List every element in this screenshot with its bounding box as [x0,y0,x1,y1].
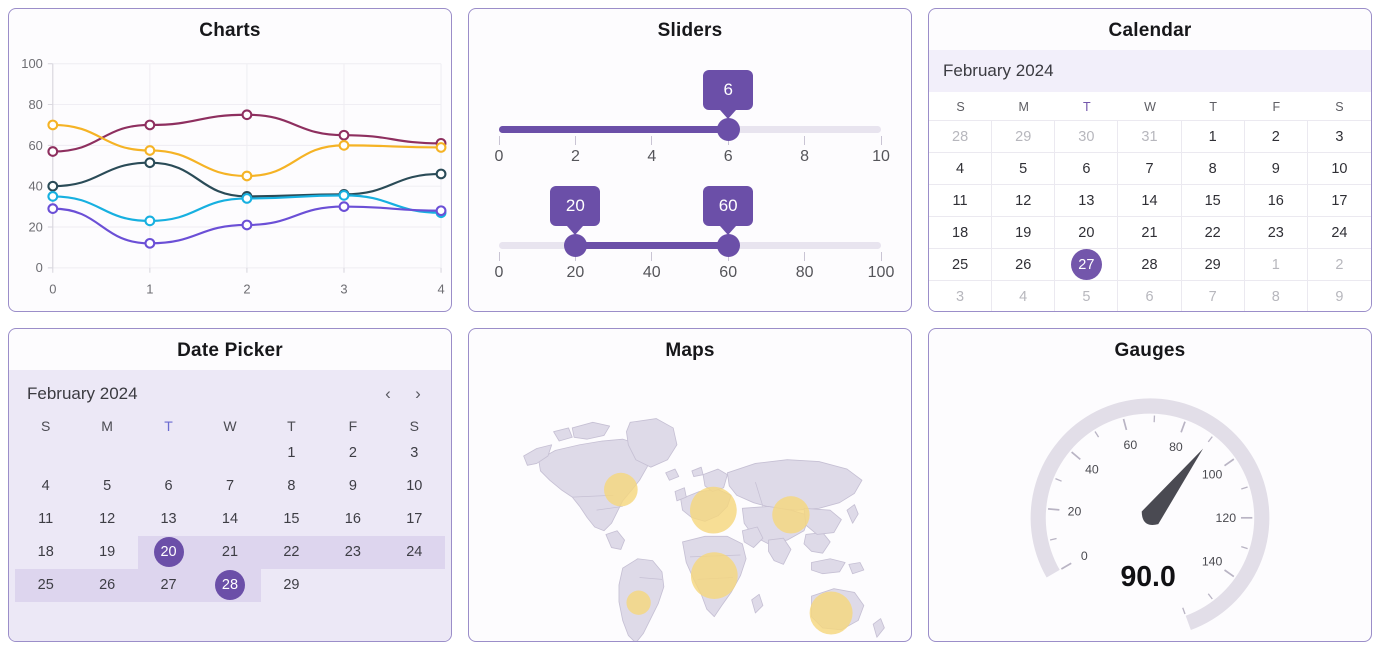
datepicker-day-label: 13 [160,511,176,527]
calendar-day-cell[interactable]: 7 [1182,281,1245,312]
slider-fill [575,242,728,249]
datepicker-day-cell[interactable]: 1 [261,436,322,469]
gauge-major-tick [1225,459,1234,466]
datepicker-day-label: 19 [99,544,115,560]
datepicker-day-cell[interactable]: 6 [138,469,199,502]
datepicker-day-cell [322,602,383,635]
datepicker-day-label: 21 [222,544,238,560]
datepicker-day-cell [15,602,76,635]
datepicker-day-label: 27 [160,577,176,593]
datepicker-card: Date Picker February 2024 ‹ › SMTWTFS 12… [8,328,452,642]
svg-text:80: 80 [28,97,42,112]
map-land-shape [692,467,703,476]
calendar-day-cell[interactable]: 8 [1245,281,1308,312]
svg-text:4: 4 [437,281,444,296]
sliders-card: Sliders 602468102060020406080100 [468,8,912,312]
gauges-title: Gauges [929,329,1371,370]
gauge-major-tick [1181,422,1185,433]
calendar-day-cell[interactable]: 29 [1182,249,1245,281]
svg-text:20: 20 [28,220,42,235]
map-land-shape [606,531,625,550]
map-land-shape [554,428,573,441]
map-land-shape [752,594,763,613]
slider-scale-label: 6 [724,148,733,166]
datepicker-selection-circle: 20 [154,537,184,567]
datepicker-day-cell [384,602,445,635]
datepicker-selected-day[interactable]: 20 [138,536,199,569]
map-land-shape [811,559,845,574]
calendar-day-cell[interactable]: 5 [992,153,1055,185]
datepicker-day-cell[interactable]: 24 [384,536,445,569]
gauge-major-tick [1072,452,1081,459]
datepicker-selection-circle: 28 [215,570,245,600]
datepicker-body: February 2024 ‹ › SMTWTFS 12345678910111… [9,370,451,641]
map-land-shape [804,508,841,534]
charts-body: 02040608010001234 [9,50,451,311]
calendar-day-cell[interactable]: 19 [992,217,1055,249]
datepicker-day-cell[interactable]: 17 [384,502,445,535]
datepicker-day-label: 24 [406,544,422,560]
datepicker-weekday-header: SMTWTFS [9,410,451,436]
slider-scale-label: 4 [647,148,656,166]
calendar-day-cell[interactable]: 7 [1118,153,1181,185]
gauge-tick-label: 80 [1169,440,1183,454]
datepicker-day-cell[interactable]: 16 [322,502,383,535]
datepicker-day-cell [138,436,199,469]
slider-tick [881,136,882,145]
map-land-shape [804,533,830,554]
calendar-day-cell[interactable]: 5 [1055,281,1118,312]
sliders-container: 602468102060020406080100 [469,50,911,311]
calendar-weekday-label: T [1182,92,1245,120]
datepicker-day-cell[interactable]: 7 [199,469,260,502]
gauge-tick-label: 40 [1085,462,1099,476]
map-land-shape [768,538,790,564]
datepicker-day-cell[interactable]: 12 [76,502,137,535]
calendar-day-cell[interactable]: 12 [992,185,1055,217]
calendar-day-cell[interactable]: 8 [1182,153,1245,185]
charts-card: Charts 02040608010001234 [8,8,452,312]
slider-thumb[interactable] [717,234,740,257]
single-slider[interactable]: 60246810 [499,64,881,174]
datepicker-day-cell [199,602,260,635]
slider-tick [804,252,805,261]
datepicker-day-label: 11 [38,511,53,527]
datepicker-day-cell [15,436,76,469]
calendar-month-label: February 2024 [929,50,1371,92]
gauge-minor-tick [1050,539,1056,540]
datepicker-weekday-label: W [199,418,260,434]
svg-text:0: 0 [36,260,43,275]
calendar-day-cell[interactable]: 28 [1118,249,1181,281]
gauge-needle [1142,449,1203,525]
calendar-day-cell[interactable]: 28 [929,121,992,153]
datepicker-day-cell [138,602,199,635]
calendar-day-cell[interactable]: 3 [929,281,992,312]
svg-text:40: 40 [28,179,42,194]
gauge-minor-tick [1208,594,1212,599]
datepicker-day-label: 8 [287,478,295,494]
datepicker-day-label: 29 [283,577,299,593]
datepicker-month-label: February 2024 [27,384,373,404]
calendar-day-cell[interactable]: 2 [1308,249,1371,281]
slider-thumb[interactable] [564,234,587,257]
svg-text:0: 0 [49,281,56,296]
datepicker-day-cell [322,569,383,602]
calendar-cell: Calendar February 2024 SMTWTFS 282930311… [920,0,1380,320]
calendar-weekday-header: SMTWTFS [929,92,1371,120]
datepicker-day-label: 12 [99,511,115,527]
sliders-body: 602468102060020406080100 [469,50,911,311]
svg-text:2: 2 [243,281,250,296]
datepicker-day-label: 3 [410,445,418,461]
calendar-weekday-label: M [992,92,1055,120]
datepicker-selected-day[interactable]: 28 [199,569,260,602]
sliders-cell: Sliders 602468102060020406080100 [460,0,920,320]
svg-text:100: 100 [21,56,43,71]
slider-tick [804,136,805,145]
calendar-day-cell[interactable]: 13 [1055,185,1118,217]
datepicker-day-cell[interactable]: 26 [76,569,137,602]
calendar-day-cell[interactable]: 25 [929,249,992,281]
slider-tick [499,252,500,261]
slider-tick [499,136,500,145]
datepicker-day-label: 25 [38,577,54,593]
gauge-tick-label: 20 [1068,504,1082,518]
datepicker-day-label: 18 [38,544,54,560]
svg-text:1: 1 [146,281,153,296]
datepicker-day-label: 14 [222,511,238,527]
gauges-cell: Gauges 02040608010012014090.0 [920,320,1380,650]
charts-cell: Charts 02040608010001234 [0,0,460,320]
calendar-day-cell[interactable]: 4 [929,153,992,185]
gauge-tick-label: 60 [1124,438,1138,452]
maps-body [469,370,911,641]
datepicker-day-cell[interactable]: 27 [138,569,199,602]
datepicker-day-cell [76,602,137,635]
calendar-day-cell[interactable]: 6 [1055,153,1118,185]
slider-scale-label: 0 [495,148,504,166]
slider-value-tooltip: 20 [550,186,600,226]
calendar-day-cell[interactable]: 18 [929,217,992,249]
gauges-card: Gauges 02040608010012014090.0 [928,328,1372,642]
calendar-day-cell[interactable]: 2 [1245,121,1308,153]
gauge-dial[interactable]: 02040608010012014090.0 [929,370,1371,641]
dashboard-grid: Charts 02040608010001234 Sliders 6024681… [0,0,1380,650]
calendar-day-cell[interactable]: 14 [1118,185,1181,217]
slider-scale-label: 8 [800,148,809,166]
slider-scale-label: 20 [566,264,584,282]
datepicker-day-grid[interactable]: 1234567891011121314151617181920212223242… [9,436,451,641]
gauge-major-tick [1061,563,1071,569]
datepicker-title: Date Picker [9,329,451,370]
africa-bubble [691,552,738,599]
slider-scale-label: 40 [643,264,661,282]
datepicker-day-cell[interactable]: 8 [261,469,322,502]
calendar-day-cell[interactable]: 20 [1055,217,1118,249]
datepicker-day-cell[interactable]: 2 [322,436,383,469]
svg-text:60: 60 [28,138,42,153]
calendar-card: Calendar February 2024 SMTWTFS 282930311… [928,8,1372,312]
charts-title: Charts [9,9,451,50]
calendar-day-cell[interactable]: 1 [1182,121,1245,153]
datepicker-day-cell [199,436,260,469]
north-america-bubble [604,473,638,507]
calendar-day-cell[interactable]: 15 [1182,185,1245,217]
world-map[interactable] [469,370,911,641]
slider-scale: 020406080100 [499,264,881,286]
datepicker-weekday-label: M [76,418,137,434]
central-asia-bubble [772,496,809,533]
gauge-major-tick [1225,570,1234,577]
datepicker-day-label: 7 [226,478,234,494]
gauges-body: 02040608010012014090.0 [929,370,1371,641]
slider-tick-marks [499,136,881,146]
datepicker-day-cell[interactable]: 18 [15,536,76,569]
calendar-selection-circle: 27 [1071,249,1102,280]
calendar-day-cell[interactable]: 26 [992,249,1055,281]
calendar-day-cell[interactable]: 11 [929,185,992,217]
datepicker-day-label: 1 [287,445,295,461]
datepicker-day-cell [261,602,322,635]
maps-cell: Maps [460,320,920,650]
calendar-day-cell[interactable]: 31 [1118,121,1181,153]
calendar-weekday-label: S [929,92,992,120]
datepicker-day-cell[interactable]: 29 [261,569,322,602]
slider-scale-label: 60 [719,264,737,282]
datepicker-day-label: 23 [345,544,361,560]
datepicker-day-label: 10 [406,478,422,494]
map-land-shape [572,422,609,439]
datepicker-day-cell[interactable]: 15 [261,502,322,535]
datepicker-day-cell[interactable]: 23 [322,536,383,569]
gauge-major-tick [1048,509,1059,510]
slider-scale-label: 100 [868,264,895,282]
calendar-day-cell[interactable]: 6 [1118,281,1181,312]
datepicker-day-cell[interactable]: 11 [15,502,76,535]
maps-title: Maps [469,329,911,370]
datepicker-weekday-label: S [15,418,76,434]
slider-scale-label: 0 [495,264,504,282]
slider-tick-marks [499,252,881,262]
slider-thumb[interactable] [717,118,740,141]
maps-card: Maps [468,328,912,642]
line-chart[interactable]: 02040608010001234 [9,50,451,311]
gauge-minor-tick [1095,432,1099,438]
datepicker-day-cell[interactable]: 13 [138,502,199,535]
datepicker-day-label: 26 [99,577,115,593]
gauge-minor-tick [1183,608,1185,614]
slider-tick [651,136,652,145]
slider-scale: 0246810 [499,148,881,170]
datepicker-day-label: 9 [349,478,357,494]
datepicker-day-label: 22 [283,544,299,560]
map-land-shape [847,505,858,524]
range-slider[interactable]: 2060020406080100 [499,180,881,290]
datepicker-day-cell[interactable]: 21 [199,536,260,569]
datepicker-header: February 2024 ‹ › [9,370,451,410]
datepicker-day-cell[interactable]: 14 [199,502,260,535]
calendar-day-cell[interactable]: 30 [1055,121,1118,153]
calendar-day-cell[interactable]: 24 [1308,217,1371,249]
gauge-value-label: 90.0 [1120,561,1175,593]
sliders-title: Sliders [469,9,911,50]
calendar-day-cell[interactable]: 4 [992,281,1055,312]
datepicker-day-label: 16 [345,511,361,527]
datepicker-day-cell[interactable]: 4 [15,469,76,502]
south-america-bubble [626,591,650,615]
calendar-weekday-label: F [1245,92,1308,120]
datepicker-day-cell[interactable]: 22 [261,536,322,569]
datepicker-day-cell[interactable]: 25 [15,569,76,602]
chevron-left-icon[interactable]: ‹ [373,384,403,404]
calendar-day-cell[interactable]: 17 [1308,185,1371,217]
map-land-shape [666,469,679,480]
calendar-selected-day[interactable]: 27 [1055,249,1118,281]
datepicker-day-cell[interactable]: 10 [384,469,445,502]
calendar-title: Calendar [929,9,1371,50]
gauge-major-tick [1124,419,1127,430]
slider-scale-label: 80 [796,264,814,282]
svg-text:3: 3 [340,281,347,296]
gauge-tick-label: 140 [1202,555,1223,569]
datepicker-day-label: 15 [283,511,299,527]
datepicker-weekday-label: S [384,418,445,434]
calendar-day-cell[interactable]: 3 [1308,121,1371,153]
gauge-minor-tick [1241,487,1247,489]
datepicker-day-label: 5 [103,478,111,494]
slider-scale-label: 2 [571,148,580,166]
datepicker-day-label: 4 [42,478,50,494]
calendar-day-cell[interactable]: 9 [1245,153,1308,185]
datepicker-day-cell[interactable]: 9 [322,469,383,502]
calendar-day-cell[interactable]: 29 [992,121,1055,153]
datepicker-weekday-label: T [138,418,199,434]
slider-value-tooltip: 60 [703,186,753,226]
map-land-shape [873,619,884,638]
datepicker-day-label: 2 [349,445,357,461]
calendar-day-grid[interactable]: 2829303112345678910111213141516171819202… [929,120,1371,312]
slider-tick [575,136,576,145]
datepicker-day-cell[interactable]: 19 [76,536,137,569]
slider-value-tooltip: 6 [703,70,753,110]
datepicker-day-label: 6 [165,478,173,494]
gauge-minor-tick [1241,547,1247,549]
calendar-day-cell[interactable]: 9 [1308,281,1371,312]
calendar-day-cell[interactable]: 10 [1308,153,1371,185]
gauge-tick-label: 100 [1202,468,1223,482]
datepicker-cell: Date Picker February 2024 ‹ › SMTWTFS 12… [0,320,460,650]
europe-bubble [690,487,737,534]
datepicker-day-cell[interactable]: 5 [76,469,137,502]
datepicker-day-cell[interactable]: 3 [384,436,445,469]
calendar-day-cell[interactable]: 1 [1245,249,1308,281]
slider-fill [499,126,728,133]
datepicker-day-label: 17 [406,511,422,527]
calendar-weekday-label: W [1118,92,1181,120]
calendar-day-cell[interactable]: 16 [1245,185,1308,217]
chevron-right-icon[interactable]: › [403,384,433,404]
gauge-tick-label: 0 [1081,549,1088,563]
gauge-minor-tick [1055,479,1061,482]
datepicker-day-cell [76,436,137,469]
slider-scale-label: 10 [872,148,890,166]
datepicker-weekday-label: T [261,418,322,434]
calendar-day-cell[interactable]: 23 [1245,217,1308,249]
calendar-weekday-label: T [1055,92,1118,120]
slider-tick [651,252,652,261]
calendar-day-cell[interactable]: 22 [1182,217,1245,249]
map-land-shape [849,563,864,574]
calendar-day-cell[interactable]: 21 [1118,217,1181,249]
slider-tick [881,252,882,261]
datepicker-day-cell [384,569,445,602]
gauge-minor-tick [1208,437,1212,442]
calendar-weekday-label: S [1308,92,1371,120]
gauge-tick-label: 120 [1216,511,1237,525]
australia-bubble [810,591,853,634]
datepicker-weekday-label: F [322,418,383,434]
